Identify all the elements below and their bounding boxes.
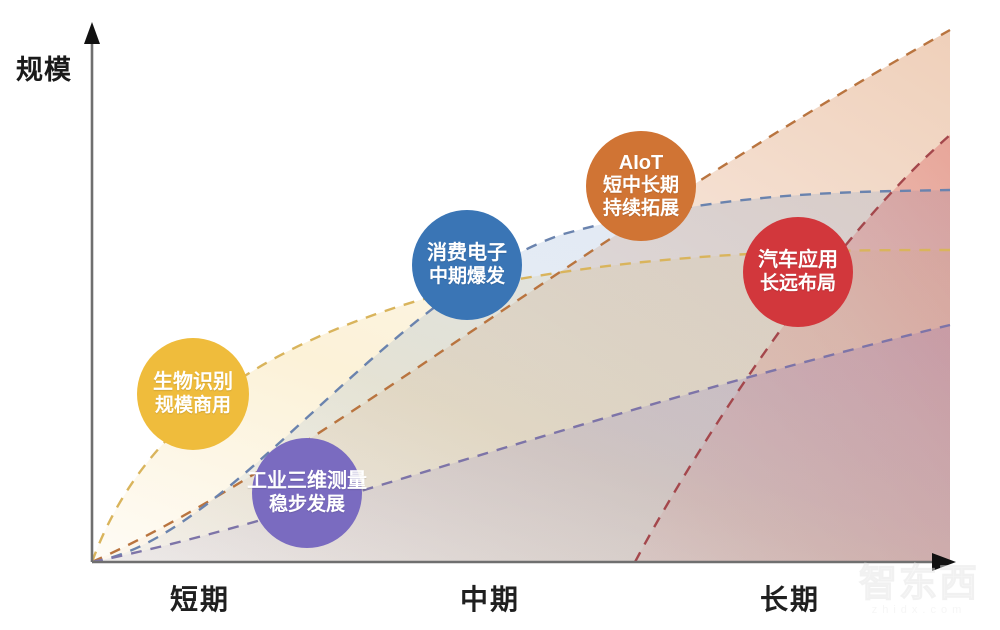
- bubble-biometrics-line1: 规模商用: [155, 395, 231, 417]
- bubble-aiot-line2: 持续拓展: [603, 198, 679, 220]
- bubble-consumer-electronics-line1: 中期爆发: [429, 266, 505, 288]
- bubble-automotive-line0: 汽车应用: [758, 249, 838, 273]
- bubble-consumer-electronics-line0: 消费电子: [427, 242, 507, 266]
- trend-area-chart: [0, 0, 1000, 630]
- bubble-industrial-3d-line1: 稳步发展: [269, 494, 345, 516]
- y-axis-label: 规模: [16, 48, 72, 87]
- watermark: 智东西 zhidx.com: [844, 550, 994, 622]
- bubble-industrial-3d[interactable]: 工业三维测量 稳步发展: [252, 438, 362, 548]
- watermark-brand: 智东西: [844, 552, 994, 607]
- y-axis-arrow-icon: [84, 22, 100, 44]
- watermark-domain: zhidx.com: [844, 604, 994, 616]
- bubble-industrial-3d-line0: 工业三维测量: [247, 470, 367, 494]
- bubble-biometrics-line0: 生物识别: [153, 371, 233, 395]
- chart-canvas: 规模 短期 中期 长期 生物识别 规模商用 工业三维测量 稳步发展 消费电子 中…: [0, 0, 1000, 630]
- bubble-aiot-line0: AIoT: [619, 152, 663, 176]
- x-tick-label-short-term: 短期: [170, 578, 230, 618]
- x-tick-label-long-term: 长期: [760, 578, 820, 618]
- bubble-automotive[interactable]: 汽车应用 长远布局: [743, 217, 853, 327]
- bubble-aiot[interactable]: AIoT 短中长期 持续拓展: [586, 131, 696, 241]
- bubble-automotive-line1: 长远布局: [760, 273, 836, 295]
- bubble-consumer-electronics[interactable]: 消费电子 中期爆发: [412, 210, 522, 320]
- bubble-aiot-line1: 短中长期: [603, 175, 679, 197]
- bubble-biometrics[interactable]: 生物识别 规模商用: [137, 338, 249, 450]
- x-tick-label-mid-term: 中期: [460, 578, 520, 618]
